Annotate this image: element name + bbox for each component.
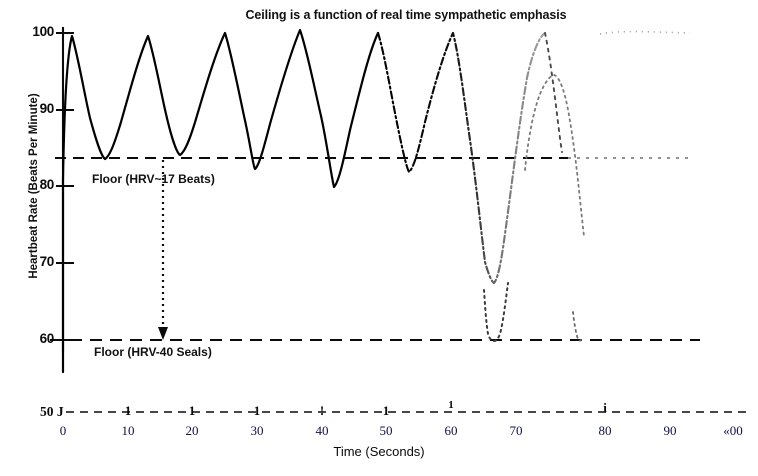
y-axis-ticks bbox=[56, 33, 74, 340]
y-tick-label-80: 80 bbox=[20, 177, 54, 192]
x-tick-label-100: «00 bbox=[713, 423, 753, 439]
x-axis-tick-glyph-20: 1 bbox=[182, 403, 202, 419]
floor-upper-label: Floor (HRV~17 Beats) bbox=[92, 172, 215, 186]
x-tick-label-20: 20 bbox=[172, 423, 212, 439]
chart-page: Ceiling is a function of real time sympa… bbox=[0, 0, 758, 476]
y-tick-label-70: 70 bbox=[20, 254, 54, 269]
x-tick-label-70: 70 bbox=[496, 423, 536, 439]
heartbeat-trace-dip-one bbox=[484, 283, 508, 341]
x-tick-label-50: 50 bbox=[366, 423, 406, 439]
heartbeat-trace-solid bbox=[63, 30, 378, 372]
x-tick-label-40: 40 bbox=[302, 423, 342, 439]
x-tick-label-90: 90 bbox=[650, 423, 690, 439]
x-axis-tick-glyph-40: ! bbox=[312, 403, 332, 419]
heartbeat-trace-descent bbox=[545, 33, 562, 152]
axis-origin-marker: 50 J bbox=[40, 404, 64, 420]
y-tick-label-100: 100 bbox=[20, 24, 54, 39]
y-tick-label-90: 90 bbox=[20, 101, 54, 116]
y-tick-label-60: 60 bbox=[20, 331, 54, 346]
hrv-range-arrow bbox=[158, 160, 168, 340]
x-axis-tick-glyph-30: 1 bbox=[247, 403, 267, 419]
x-tick-label-10: 10 bbox=[108, 423, 148, 439]
floor-lower-label: Floor (HRV-40 Seals) bbox=[94, 345, 212, 359]
heartbeat-trace-dip-two bbox=[573, 312, 581, 341]
x-tick-label-0: 0 bbox=[43, 423, 83, 439]
x-tick-label-60: 60 bbox=[431, 423, 471, 439]
x-axis-tick-glyph-10: 1 bbox=[118, 403, 138, 419]
x-tick-label-30: 30 bbox=[237, 423, 277, 439]
x-axis-tick-glyph-60: 1 bbox=[441, 399, 461, 411]
x-axis-tick-glyph-80: i bbox=[595, 400, 615, 416]
x-axis-title: Time (Seconds) bbox=[0, 444, 758, 459]
x-axis-tick-glyph-50: 1 bbox=[376, 403, 396, 419]
x-tick-label-80: 80 bbox=[585, 423, 625, 439]
